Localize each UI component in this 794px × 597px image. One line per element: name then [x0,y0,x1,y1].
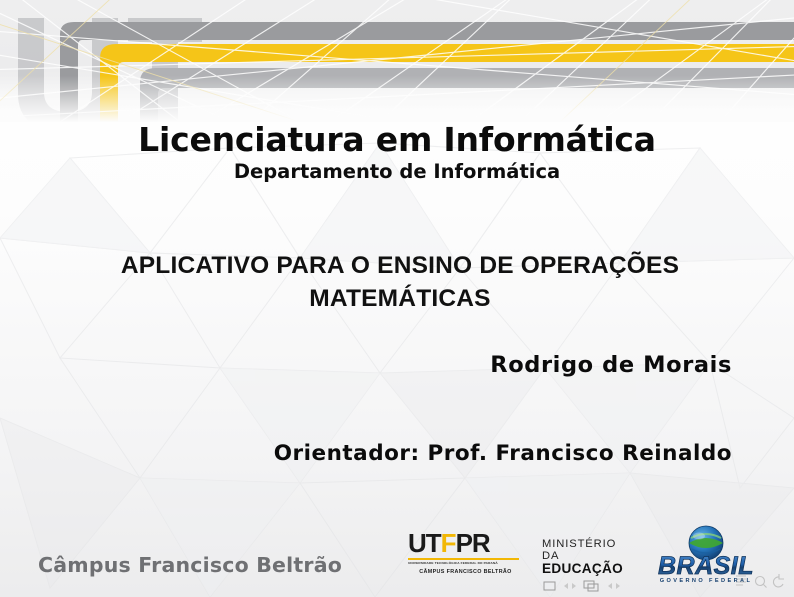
utfpr-f-text: F [441,528,456,558]
utfpr-campus-text: CÂMPUS FRANCISCO BELTRÃO [408,569,523,575]
utfpr-underline [408,558,519,560]
mec-logo: MINISTÉRIO DA EDUCAÇÃO [542,538,637,596]
author-name: Rodrigo de Morais [490,352,732,378]
banner-graphic [0,0,794,122]
mec-line1: MINISTÉRIO DA [542,538,637,562]
utfpr-ut-text: UT [408,528,441,558]
presentation-title-line1: APLICATIVO PARA O ENSINO DE OPERAÇÕES [121,252,679,279]
campus-label: Câmpus Francisco Beltrão [38,553,342,577]
course-title: Licenciatura em Informática [0,120,794,159]
utfpr-pr-text: PR [456,528,490,558]
mec-line2: EDUCAÇÃO [542,562,637,577]
utfpr-logo: UTFPR UNIVERSIDADE TECNOLÓGICA FEDERAL D… [408,530,523,575]
footer-logo-row: UTFPR UNIVERSIDADE TECNOLÓGICA FEDERAL D… [408,524,783,590]
advisor-name: Orientador: Prof. Francisco Reinaldo [274,441,732,466]
presentation-title-line2: MATEMÁTICAS [309,285,490,312]
presentation-title: APLICATIVO PARA O ENSINO DE OPERAÇÕES MA… [55,250,745,315]
course-subtitle: Departamento de Informática [0,160,794,183]
presentation-slide: Licenciatura em Informática Departamento… [0,0,794,597]
utfpr-microtext: UNIVERSIDADE TECNOLÓGICA FEDERAL DO PARA… [408,561,525,565]
viewer-controls-icon[interactable] [730,573,788,591]
header-banner [0,0,794,122]
utfpr-wordmark: UTFPR [408,530,523,557]
mec-brand-marks-icon [542,580,637,592]
